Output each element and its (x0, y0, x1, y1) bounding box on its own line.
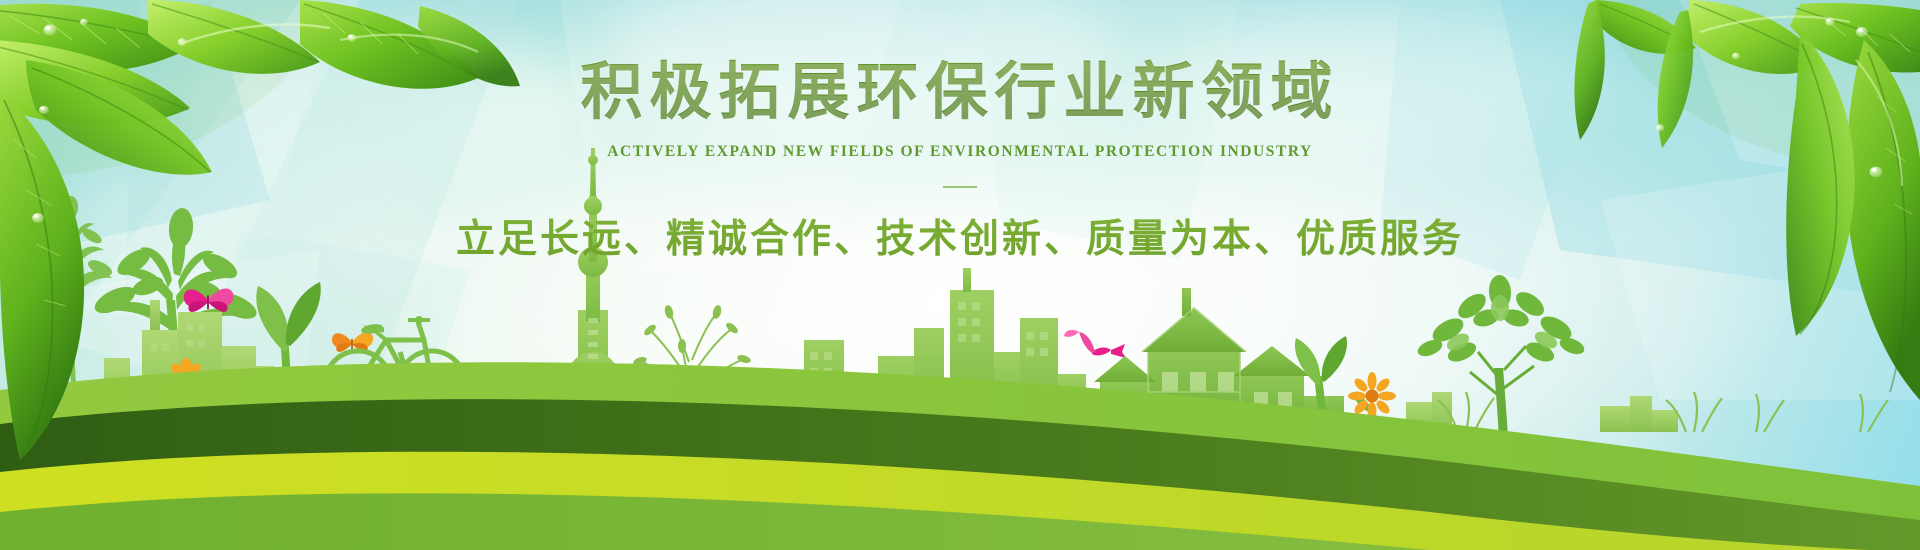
leaf-cluster-top-right-icon (1574, 0, 1920, 400)
leaf-cluster-top-left-icon (0, 0, 520, 460)
eco-banner: 积极拓展环保行业新领域 ACTIVELY EXPAND NEW FIELDS O… (0, 0, 1920, 550)
leaf-decoration-layer (0, 0, 1920, 550)
